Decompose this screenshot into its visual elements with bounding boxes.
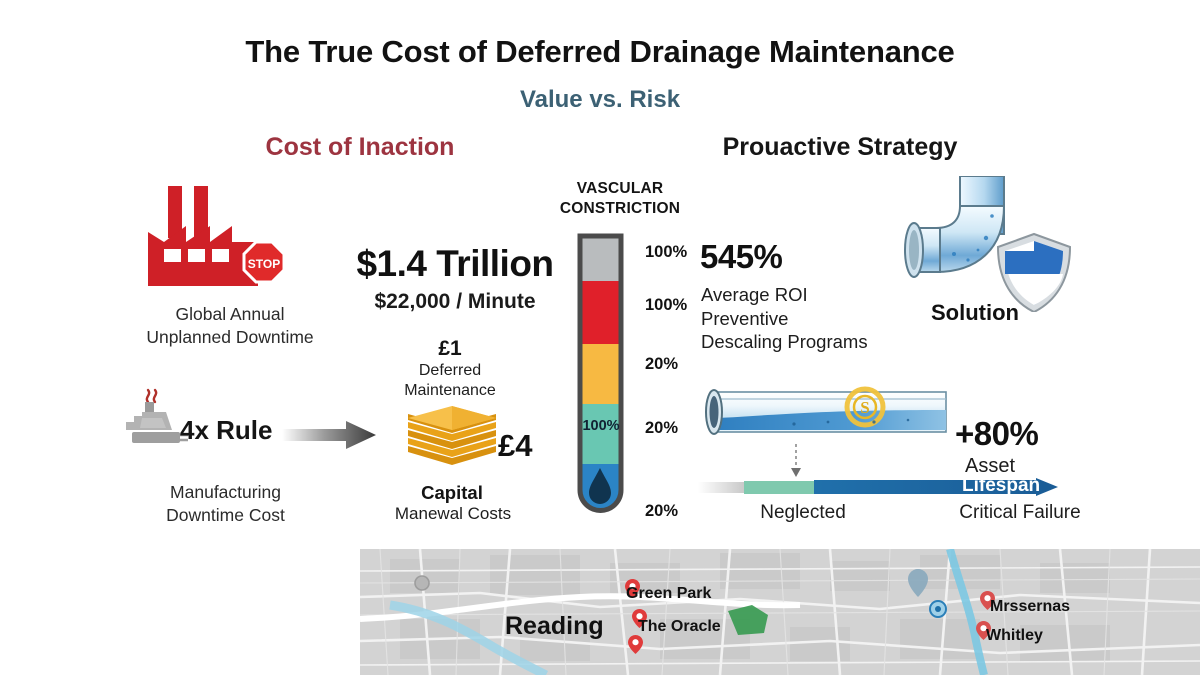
section-heading-cost-of-inaction: Cost of Inaction bbox=[210, 133, 510, 162]
manufacturing-caption-line1: Manufacturing bbox=[118, 481, 333, 504]
neglected-label: Neglected bbox=[723, 502, 883, 524]
tube-tick-1: 100% bbox=[645, 296, 687, 315]
tube-inner-label: 100% bbox=[578, 418, 624, 434]
pipe-with-dollar-coin-icon: S bbox=[698, 386, 950, 444]
coin-stack-icon bbox=[404, 402, 500, 474]
tube-tick-0: 100% bbox=[645, 243, 687, 262]
tube-title-line1: VASCULAR bbox=[545, 179, 695, 199]
right-arrow-icon bbox=[282, 420, 376, 450]
solution-label: Solution bbox=[900, 300, 1050, 326]
page-subtitle: Value vs. Risk bbox=[0, 86, 1200, 114]
map-label-the-oracle: The Oracle bbox=[638, 618, 721, 636]
headline-stat-rate: $22,000 / Minute bbox=[340, 290, 570, 314]
capital-caption-line1: Capital bbox=[392, 482, 512, 504]
factory-stop-icon: STOP bbox=[140, 186, 305, 301]
tube-tick-2: 20% bbox=[645, 355, 678, 374]
map-label-mrssernas: Mrssernas bbox=[990, 598, 1070, 616]
manufacturing-caption-line2: Downtime Cost bbox=[118, 504, 333, 527]
deferred-caption-line1: Deferred bbox=[380, 361, 520, 381]
roi-value: 545% bbox=[700, 238, 782, 276]
manufacturing-caption: Manufacturing Downtime Cost bbox=[118, 481, 333, 527]
tube-tick-4: 20% bbox=[645, 502, 678, 521]
four-x-rule-label: 4x Rule bbox=[180, 415, 273, 446]
capital-renewal-value: £4 bbox=[498, 428, 532, 464]
tube-tick-3: 20% bbox=[645, 419, 678, 438]
factory-caption-line1: Global Annual bbox=[120, 303, 340, 326]
map-panel[interactable] bbox=[360, 549, 1200, 675]
factory-caption-line2: Unplanned Downtime bbox=[120, 326, 340, 349]
map-label-whitley: Whitley bbox=[986, 627, 1043, 645]
roi-line3: Descaling Programs bbox=[701, 330, 931, 354]
deferred-maintenance-value: £1 bbox=[390, 337, 510, 361]
capital-caption-line2: Manewal Costs bbox=[378, 504, 528, 524]
svg-text:STOP: STOP bbox=[248, 257, 280, 271]
lifespan-word: Lifespan bbox=[962, 475, 1040, 497]
critical-failure-label: Critical Failure bbox=[930, 502, 1110, 524]
asset-lifespan-value: +80% bbox=[955, 415, 1038, 453]
map-label-reading: Reading bbox=[505, 612, 604, 641]
map-pin-third[interactable] bbox=[628, 635, 643, 654]
map-label-green-park: Green Park bbox=[626, 585, 711, 603]
deferred-maintenance-caption: Deferred Maintenance bbox=[380, 361, 520, 401]
roi-line2: Preventive bbox=[701, 307, 931, 331]
infographic-canvas: The True Cost of Deferred Drainage Maint… bbox=[0, 0, 1200, 675]
section-heading-proactive-strategy: Prouactive Strategy bbox=[690, 133, 990, 162]
tube-title: VASCULAR CONSTRICTION bbox=[545, 179, 695, 219]
tube-title-line2: CONSTRICTION bbox=[545, 199, 695, 219]
factory-caption: Global Annual Unplanned Downtime bbox=[120, 303, 340, 349]
pipe-elbow-shield-icon bbox=[900, 176, 1090, 312]
vascular-constriction-tube bbox=[576, 232, 625, 518]
page-title: The True Cost of Deferred Drainage Maint… bbox=[0, 34, 1200, 70]
headline-stat-value: $1.4 Trillion bbox=[340, 243, 570, 285]
svg-text:S: S bbox=[860, 398, 869, 417]
roi-description: Average ROI Preventive Descaling Program… bbox=[701, 283, 931, 354]
deferred-caption-line2: Maintenance bbox=[380, 381, 520, 401]
roi-line1: Average ROI bbox=[701, 283, 931, 307]
dotted-connector bbox=[795, 444, 797, 478]
